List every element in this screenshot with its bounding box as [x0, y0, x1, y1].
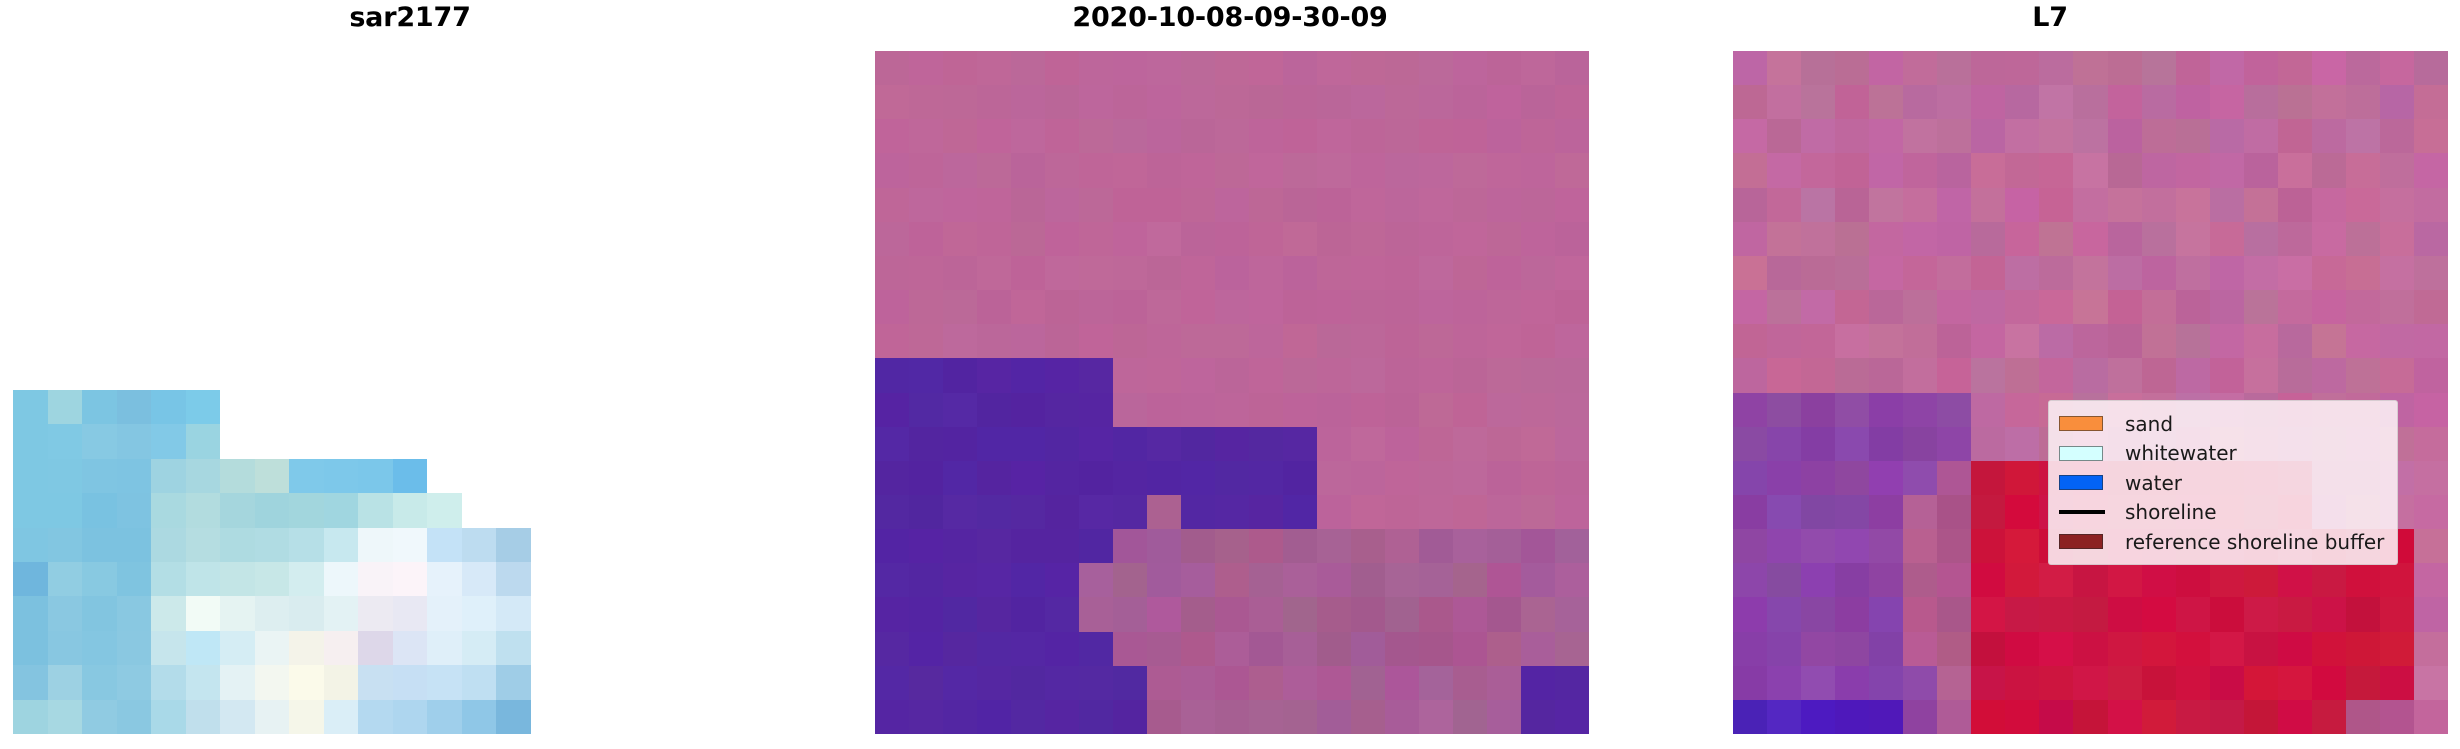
sand-swatch-icon: [2059, 416, 2103, 431]
scene-cell: [1181, 290, 1215, 324]
l7-cell: [1937, 666, 1971, 700]
scene-cell: [1419, 324, 1453, 358]
l7-cell: [1937, 188, 1971, 222]
sar-cell: [13, 700, 48, 734]
scene-cell: [1079, 222, 1113, 256]
l7-cell: [2142, 51, 2176, 85]
scene-cell: [1317, 427, 1351, 461]
scene-cell: [1181, 85, 1215, 119]
scene-cell: [1419, 563, 1453, 597]
sar-cell: [82, 562, 117, 596]
l7-cell: [1767, 153, 1801, 187]
sar-cell: [220, 596, 255, 630]
l7-cell: [1767, 632, 1801, 666]
l7-cell: [2142, 324, 2176, 358]
scene-cell: [977, 153, 1011, 187]
scene-cell: [875, 393, 909, 427]
scene-cell: [875, 529, 909, 563]
scene-cell: [875, 85, 909, 119]
l7-cell: [1903, 632, 1937, 666]
sar-cell: [462, 424, 497, 458]
l7-cell: [2108, 563, 2142, 597]
l7-cell: [2005, 529, 2039, 563]
scene-cell: [1147, 632, 1181, 666]
scene-cell: [1011, 393, 1045, 427]
l7-cell: [2005, 393, 2039, 427]
scene-cell: [1521, 85, 1555, 119]
l7-cell: [1835, 427, 1869, 461]
scene-cell: [1249, 666, 1283, 700]
sar-cell: [117, 596, 152, 630]
scene-cell: [1385, 51, 1419, 85]
l7-cell: [2176, 51, 2210, 85]
scene-cell: [1215, 358, 1249, 392]
sar-cell: [393, 562, 428, 596]
l7-cell: [2005, 119, 2039, 153]
scene-cell: [1351, 256, 1385, 290]
l7-cell: [2108, 188, 2142, 222]
scene-cell: [1113, 188, 1147, 222]
l7-cell: [2312, 222, 2346, 256]
scene-cell: [1555, 393, 1589, 427]
scene-cell: [1317, 85, 1351, 119]
legend-label-reference-buffer: reference shoreline buffer: [2111, 532, 2384, 552]
sar-cell: [48, 424, 83, 458]
scene-cell: [977, 461, 1011, 495]
scene-cell: [1317, 495, 1351, 529]
l7-cell: [2380, 632, 2414, 666]
sar-cell: [393, 528, 428, 562]
scene-cell: [1045, 153, 1079, 187]
scene-cell: [875, 222, 909, 256]
sar-cell: [496, 424, 531, 458]
l7-cell: [2039, 563, 2073, 597]
scene-cell: [1249, 461, 1283, 495]
sar-cell: [531, 596, 566, 630]
l7-cell: [2244, 51, 2278, 85]
sar-cell: [634, 700, 669, 734]
scene-cell: [1453, 188, 1487, 222]
l7-cell: [1937, 85, 1971, 119]
whitewater-swatch-icon: [2059, 446, 2103, 461]
l7-cell: [2244, 188, 2278, 222]
sar-cell: [82, 700, 117, 734]
sar-cell: [393, 665, 428, 699]
scene-cell: [943, 461, 977, 495]
panel-l7: L7: [1640, 0, 2460, 749]
l7-cell: [2210, 119, 2244, 153]
scene-cell: [1283, 529, 1317, 563]
sar-cell: [427, 424, 462, 458]
scene-cell: [1215, 324, 1249, 358]
sar-cell: [48, 665, 83, 699]
l7-cell: [2073, 632, 2107, 666]
sar-cell: [531, 562, 566, 596]
scene-cell: [1147, 51, 1181, 85]
sar-cell: [462, 665, 497, 699]
scene-cell: [1555, 324, 1589, 358]
scene-cell: [1249, 495, 1283, 529]
legend-box: sand whitewater water shoreline: [2048, 400, 2398, 565]
l7-cell: [1869, 358, 1903, 392]
sar-cell: [496, 493, 531, 527]
l7-cell: [2414, 461, 2448, 495]
scene-cell: [909, 256, 943, 290]
sar-cell: [82, 528, 117, 562]
sar-cell: [531, 631, 566, 665]
scene-cell: [1045, 222, 1079, 256]
scene-cell: [1385, 85, 1419, 119]
sar-cell: [13, 493, 48, 527]
l7-cell: [1801, 188, 1835, 222]
l7-cell: [2073, 358, 2107, 392]
l7-cell: [1869, 529, 1903, 563]
sar-cell: [255, 700, 290, 734]
l7-cell: [1767, 358, 1801, 392]
sar-cell: [289, 528, 324, 562]
sar-cell: [358, 631, 393, 665]
scene-cell: [1011, 666, 1045, 700]
sar-cell: [289, 562, 324, 596]
scene-cell: [1181, 597, 1215, 631]
sar-cell: [600, 562, 635, 596]
scene-cell: [1555, 597, 1589, 631]
l7-cell: [1733, 666, 1767, 700]
l7-cell: [2414, 700, 2448, 734]
l7-cell: [1869, 153, 1903, 187]
scene-cell: [977, 51, 1011, 85]
sar-cell: [669, 390, 704, 424]
sar-cell: [255, 424, 290, 458]
scene-cell: [1487, 358, 1521, 392]
l7-cell: [1767, 188, 1801, 222]
sar-cell: [151, 424, 186, 458]
scene-cell: [1351, 85, 1385, 119]
sar-cell: [565, 700, 600, 734]
l7-cell: [2005, 358, 2039, 392]
l7-cell: [1835, 597, 1869, 631]
l7-cell: [2312, 324, 2346, 358]
sar-cell: [117, 390, 152, 424]
scene-cell: [1385, 666, 1419, 700]
l7-cell: [2073, 85, 2107, 119]
scene-cell: [1147, 427, 1181, 461]
sar-cell: [289, 596, 324, 630]
l7-cell: [1733, 495, 1767, 529]
l7-cell: [2244, 256, 2278, 290]
l7-cell: [1869, 495, 1903, 529]
sar-cell: [289, 459, 324, 493]
sar-cell: [324, 631, 359, 665]
scene-cell: [875, 461, 909, 495]
l7-cell: [1971, 153, 2005, 187]
scene-cell: [1453, 119, 1487, 153]
scene-cell: [1419, 597, 1453, 631]
sar-cell: [151, 665, 186, 699]
scene-cell: [1215, 461, 1249, 495]
scene-cell: [1521, 666, 1555, 700]
sar-cell: [669, 459, 704, 493]
legend-item: water: [2059, 468, 2387, 498]
panel-scene-2020-10-08: 2020-10-08-09-30-09 sand whitewater wa: [820, 0, 1640, 749]
sar-cell: [324, 424, 359, 458]
scene-cell: [1521, 51, 1555, 85]
scene-cell: [1487, 119, 1521, 153]
l7-cell: [2108, 85, 2142, 119]
l7-cell: [2346, 222, 2380, 256]
scene-cell: [1011, 427, 1045, 461]
l7-cell: [2073, 324, 2107, 358]
l7-cell: [2210, 85, 2244, 119]
sar-cell: [289, 700, 324, 734]
l7-cell: [1835, 85, 1869, 119]
l7-cell: [1801, 632, 1835, 666]
sar-cell: [600, 459, 635, 493]
l7-cell: [2414, 256, 2448, 290]
legend-label-sand: sand: [2111, 414, 2173, 434]
scene-cell: [1045, 666, 1079, 700]
l7-cell: [1767, 85, 1801, 119]
sar-cell: [565, 631, 600, 665]
l7-cell: [2005, 222, 2039, 256]
l7-cell: [2278, 85, 2312, 119]
l7-cell: [2039, 700, 2073, 734]
scene-cell: [909, 188, 943, 222]
l7-cell: [2244, 290, 2278, 324]
scene-cell: [1181, 188, 1215, 222]
sar-cell: [531, 390, 566, 424]
scene-cell: [943, 256, 977, 290]
scene-cell: [1419, 119, 1453, 153]
l7-cell: [1801, 256, 1835, 290]
l7-cell: [1733, 51, 1767, 85]
scene-cell: [909, 222, 943, 256]
sar-cell: [462, 390, 497, 424]
l7-cell: [1801, 393, 1835, 427]
sar-cell: [255, 493, 290, 527]
l7-cell: [2005, 563, 2039, 597]
l7-cell: [1835, 700, 1869, 734]
sar-cell: [600, 665, 635, 699]
sar-cell: [462, 596, 497, 630]
sar-cell: [496, 528, 531, 562]
scene-cell: [1317, 256, 1351, 290]
l7-cell: [2108, 358, 2142, 392]
scene-cell: [1079, 85, 1113, 119]
scene-cell: [1521, 393, 1555, 427]
l7-cell: [1971, 427, 2005, 461]
scene-cell: [1147, 666, 1181, 700]
scene-cell: [1351, 563, 1385, 597]
scene-cell: [1079, 393, 1113, 427]
l7-cell: [2142, 256, 2176, 290]
sar-cell: [634, 459, 669, 493]
l7-cell: [2142, 119, 2176, 153]
l7-cell: [2039, 290, 2073, 324]
scene-cell: [1011, 222, 1045, 256]
scene-cell: [943, 119, 977, 153]
scene-cell: [943, 597, 977, 631]
scene-cell: [1079, 427, 1113, 461]
scene-cell: [1113, 700, 1147, 734]
scene-cell: [1453, 529, 1487, 563]
l7-cell: [2414, 597, 2448, 631]
l7-cell: [2380, 324, 2414, 358]
l7-cell: [2210, 666, 2244, 700]
l7-cell: [1733, 256, 1767, 290]
sar-raster-grid: [13, 390, 703, 734]
scene-cell: [1351, 188, 1385, 222]
scene-cell: [875, 290, 909, 324]
l7-cell: [2278, 119, 2312, 153]
sar-cell: [531, 493, 566, 527]
l7-cell: [1869, 51, 1903, 85]
l7-cell: [2346, 256, 2380, 290]
scene-cell: [909, 461, 943, 495]
l7-cell: [2346, 666, 2380, 700]
sar-cell: [82, 390, 117, 424]
l7-cell: [2142, 358, 2176, 392]
l7-cell: [1869, 256, 1903, 290]
scene-cell: [1147, 700, 1181, 734]
scene-cell: [1147, 461, 1181, 495]
scene-cell: [1487, 324, 1521, 358]
l7-cell: [2312, 700, 2346, 734]
sar-cell: [496, 562, 531, 596]
l7-cell: [1801, 666, 1835, 700]
l7-cell: [1971, 393, 2005, 427]
l7-cell: [2346, 563, 2380, 597]
l7-cell: [2414, 290, 2448, 324]
scene-cell: [1487, 597, 1521, 631]
scene-cell: [1385, 495, 1419, 529]
l7-cell: [2312, 51, 2346, 85]
l7-cell: [1869, 290, 1903, 324]
scene-cell: [909, 85, 943, 119]
l7-cell: [1733, 119, 1767, 153]
sar-cell: [565, 562, 600, 596]
l7-cell: [1733, 632, 1767, 666]
sar-cell: [324, 390, 359, 424]
legend-item: sand: [2059, 409, 2387, 439]
l7-cell: [1937, 427, 1971, 461]
l7-cell: [2073, 153, 2107, 187]
scene-cell: [1317, 324, 1351, 358]
l7-cell: [1937, 290, 1971, 324]
sar-cell: [600, 700, 635, 734]
l7-cell: [1903, 290, 1937, 324]
l7-cell: [2278, 563, 2312, 597]
sar-cell: [186, 493, 221, 527]
l7-cell: [2312, 85, 2346, 119]
l7-cell: [1937, 222, 1971, 256]
scene-cell: [1351, 427, 1385, 461]
l7-cell: [2176, 324, 2210, 358]
l7-cell: [1767, 427, 1801, 461]
l7-cell: [2346, 188, 2380, 222]
scene-cell: [1555, 632, 1589, 666]
l7-cell: [2005, 666, 2039, 700]
scene-cell: [1215, 85, 1249, 119]
l7-cell: [1937, 461, 1971, 495]
scene-cell: [1113, 324, 1147, 358]
scene-cell: [1113, 256, 1147, 290]
l7-cell: [2244, 324, 2278, 358]
sar-cell: [117, 528, 152, 562]
scene-cell: [1249, 393, 1283, 427]
sar-cell: [427, 493, 462, 527]
scene-cell: [977, 324, 1011, 358]
scene-cell: [1011, 51, 1045, 85]
scene-cell: [1011, 153, 1045, 187]
sar-cell: [634, 390, 669, 424]
scene-cell: [943, 393, 977, 427]
l7-cell: [1869, 563, 1903, 597]
l7-cell: [2176, 85, 2210, 119]
scene-cell: [1419, 358, 1453, 392]
scene-cell: [943, 666, 977, 700]
l7-cell: [1733, 358, 1767, 392]
scene-cell: [1181, 700, 1215, 734]
scene-cell: [1283, 597, 1317, 631]
scene-cell: [1385, 358, 1419, 392]
sar-cell: [634, 631, 669, 665]
l7-cell: [2346, 324, 2380, 358]
l7-cell: [2210, 153, 2244, 187]
scene-cell: [1045, 427, 1079, 461]
l7-cell: [1835, 358, 1869, 392]
sar-cell: [531, 424, 566, 458]
scene-cell: [1181, 461, 1215, 495]
sar-cell: [151, 700, 186, 734]
scene-cell: [1351, 119, 1385, 153]
scene-cell: [1045, 529, 1079, 563]
l7-cell: [2210, 188, 2244, 222]
l7-cell: [2142, 632, 2176, 666]
l7-cell: [1835, 393, 1869, 427]
scene-cell: [1419, 427, 1453, 461]
sar-cell: [531, 665, 566, 699]
l7-cell: [1903, 700, 1937, 734]
l7-cell: [2414, 358, 2448, 392]
scene-cell: [1113, 666, 1147, 700]
l7-cell: [2244, 153, 2278, 187]
l7-cell: [1835, 153, 1869, 187]
sar-cell: [82, 424, 117, 458]
scene-cell: [1487, 700, 1521, 734]
l7-cell: [2278, 290, 2312, 324]
sar-cell: [565, 493, 600, 527]
scene-cell: [875, 632, 909, 666]
l7-cell: [2312, 666, 2346, 700]
l7-cell: [1937, 700, 1971, 734]
sar-cell: [186, 700, 221, 734]
sar-cell: [496, 390, 531, 424]
sar-cell: [427, 596, 462, 630]
sar-cell: [255, 665, 290, 699]
scene-cell: [1215, 119, 1249, 153]
l7-cell: [1937, 358, 1971, 392]
l7-cell: [2278, 188, 2312, 222]
sar-cell: [358, 528, 393, 562]
l7-cell: [1767, 461, 1801, 495]
sar-cell: [669, 631, 704, 665]
legend-label-shoreline: shoreline: [2111, 502, 2217, 522]
sar-cell: [324, 596, 359, 630]
l7-cell: [2312, 632, 2346, 666]
scene-cell: [1147, 495, 1181, 529]
scene-cell: [1283, 222, 1317, 256]
